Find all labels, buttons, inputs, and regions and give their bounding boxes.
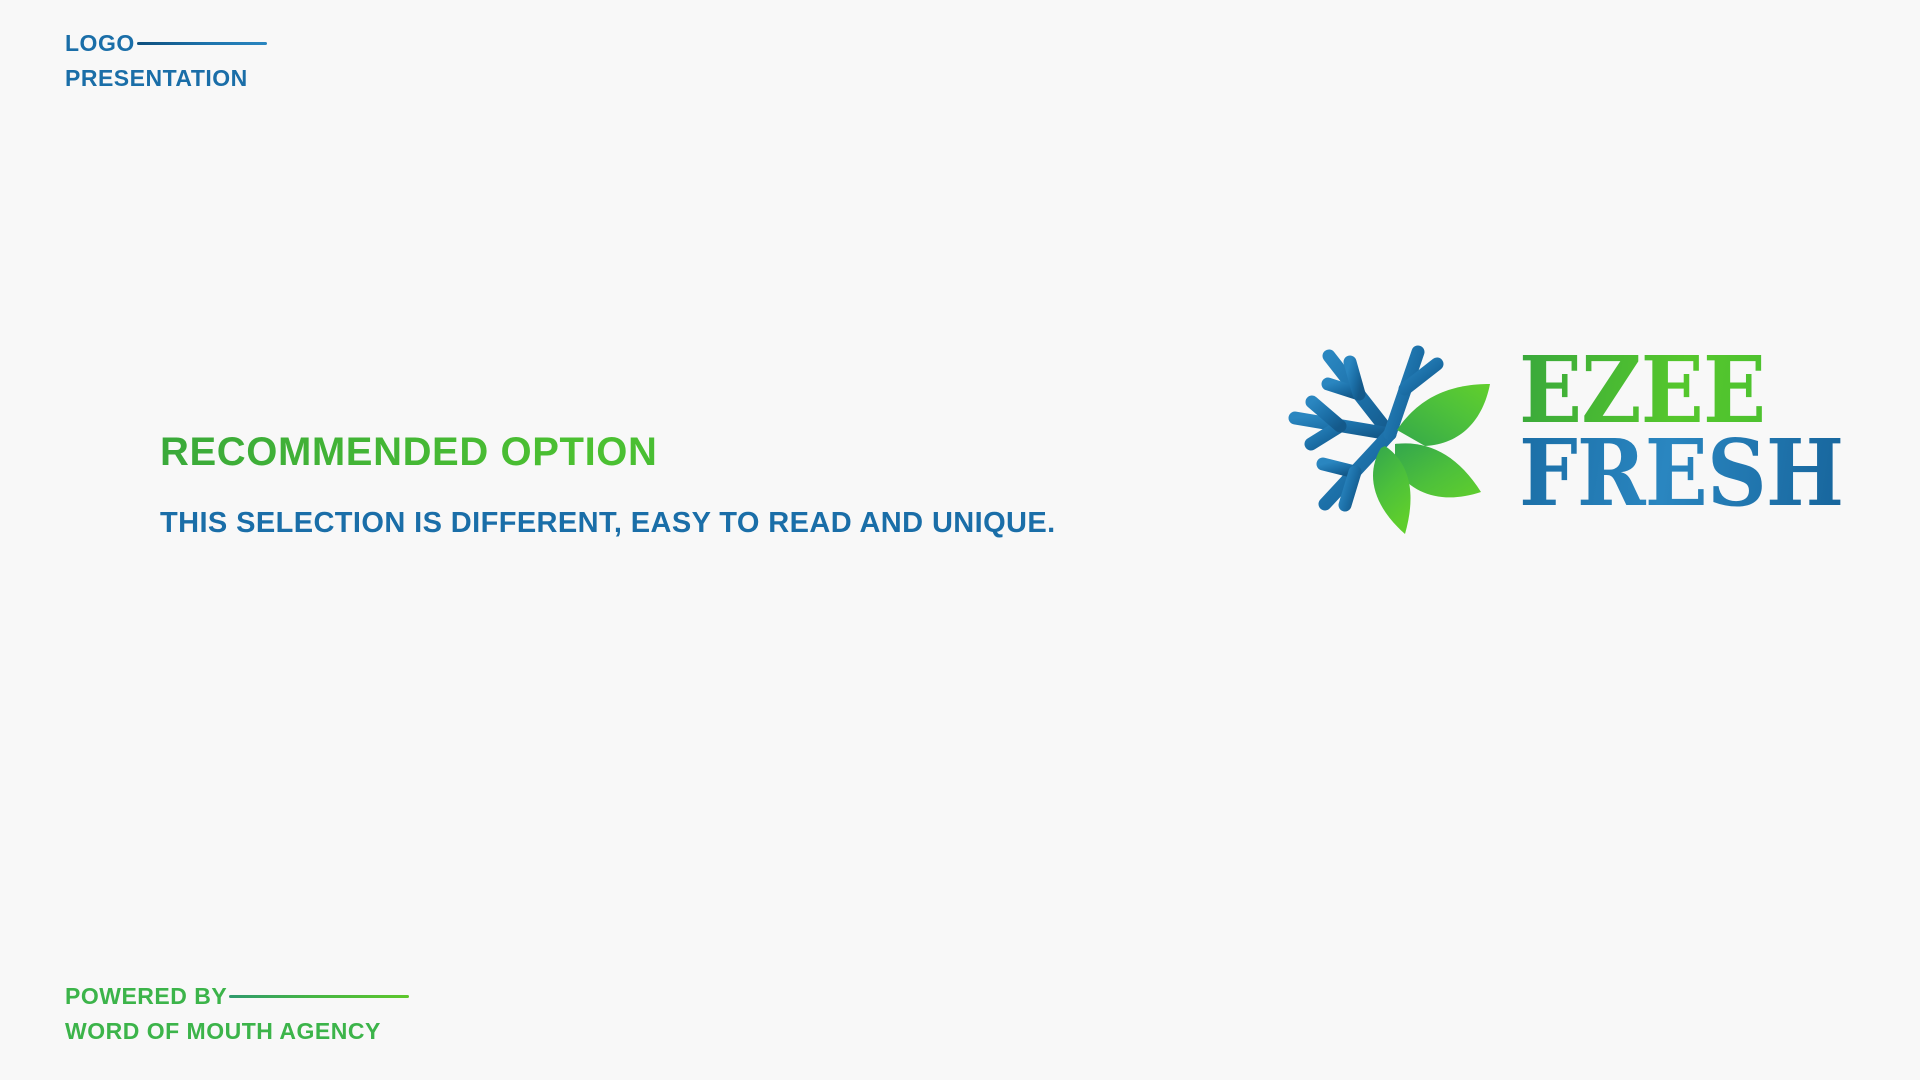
slide-header-presentation-text: PRESENTATION: [65, 67, 267, 90]
slide-footer-line1-row: POWERED BY: [65, 985, 409, 1008]
wordmark-ezee: EZEE: [1519, 352, 1843, 429]
copy-block: RECOMMENDED OPTION THIS SELECTION IS DIF…: [160, 432, 1110, 542]
footer-powered-by-text: POWERED BY: [65, 985, 227, 1008]
slide-footer: POWERED BY WORD OF MOUTH AGENCY: [65, 985, 409, 1043]
footer-agency-name: WORD OF MOUTH AGENCY: [65, 1020, 409, 1043]
horizontal-rule-icon: [137, 42, 267, 45]
snowflake-leaf-logo-icon: [1285, 322, 1497, 542]
slide-header-line1-row: LOGO: [65, 32, 267, 55]
slide-header-logo-text: LOGO: [65, 32, 135, 55]
slide-header: LOGO PRESENTATION: [65, 32, 267, 90]
logo-wordmark: EZEE FRESH: [1519, 352, 1879, 513]
leaf-shape-upper-right: [1397, 384, 1490, 446]
horizontal-rule-icon: [229, 995, 409, 998]
wordmark-fresh: FRESH: [1519, 435, 1843, 512]
page-title: RECOMMENDED OPTION: [160, 432, 1110, 472]
page-subtitle: THIS SELECTION IS DIFFERENT, EASY TO REA…: [160, 504, 1060, 542]
logo-lockup: EZEE FRESH: [1285, 322, 1879, 542]
slide-canvas: { "slide": { "background_color": "#f8f8f…: [0, 0, 1920, 1080]
